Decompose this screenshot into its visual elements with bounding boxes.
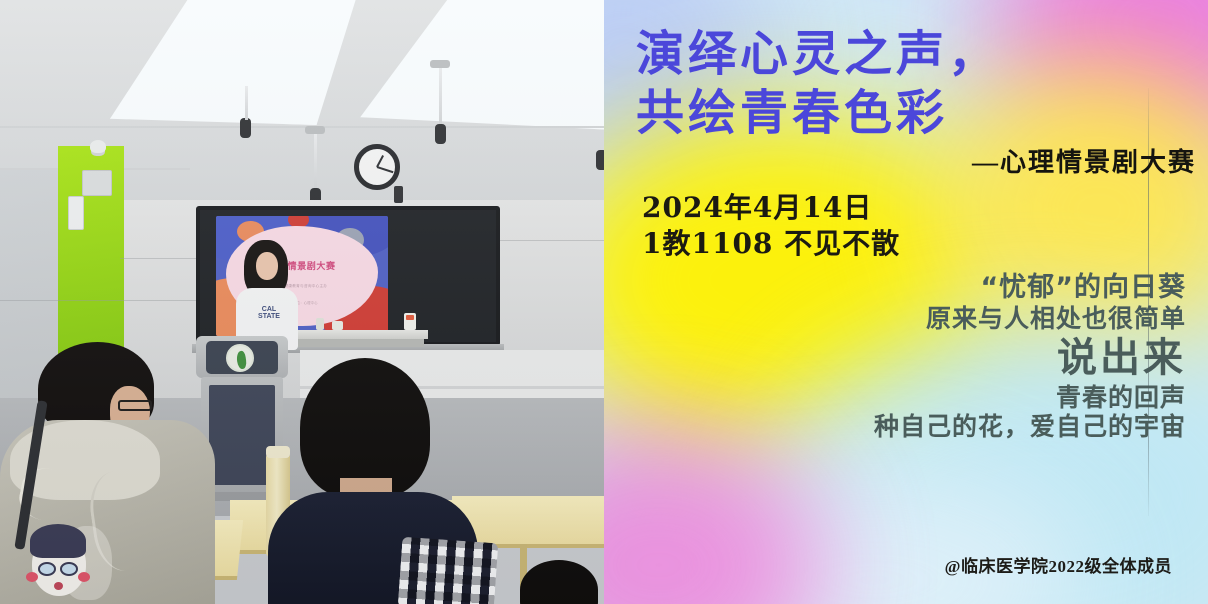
play-title: 原来与人相处也很简单	[664, 304, 1186, 334]
print-eye-right	[60, 562, 78, 576]
light-mount	[305, 126, 325, 134]
wall-seam	[0, 300, 200, 301]
plaid-shirt	[398, 537, 499, 604]
speaker-face	[256, 252, 278, 280]
poster-subtitle: —心理情景剧大赛	[804, 142, 1196, 179]
poster-title-line-2: 共绘青春色彩	[636, 85, 1196, 144]
light-rod	[439, 68, 442, 126]
print-cheek-right	[78, 572, 90, 582]
event-poster: 演绎心灵之声， 共绘青春色彩 —心理情景剧大赛 2024年4月14日 1教110…	[604, 0, 1208, 604]
wall-seam	[500, 240, 604, 241]
cup	[316, 318, 324, 330]
teacher-desk-apron	[292, 339, 424, 347]
teacher-desk	[288, 330, 428, 339]
play-title: 青春的回声	[664, 383, 1186, 413]
play-title: 说出来	[664, 335, 1186, 382]
bottle-cap	[266, 446, 290, 458]
poster-title: 演绎心灵之声， 共绘青春色彩	[636, 26, 1196, 143]
clock-mount	[394, 186, 403, 203]
print-hat	[30, 524, 86, 558]
print-cheek-left	[26, 572, 38, 582]
camera-icon	[90, 140, 106, 153]
cup	[404, 313, 416, 330]
sweatshirt-text: CAL STATE	[258, 306, 280, 328]
spotlight-icon	[240, 118, 251, 138]
cartoon-character-print	[18, 520, 110, 604]
slide-title: 心理情景剧大赛	[216, 259, 388, 272]
wall-clock-icon	[354, 144, 400, 190]
print-mouth	[54, 582, 63, 590]
light-mount	[430, 60, 450, 68]
event-venue: 1教1108 不见不散	[642, 226, 1062, 262]
poster-credit: @临床医学院2022级全体成员	[604, 552, 1172, 577]
print-eye-left	[38, 562, 56, 576]
play-title: 种自己的花，爱自己的宇宙	[664, 412, 1186, 442]
event-datetime-block: 2024年4月14日 1教1108 不见不散	[642, 190, 1062, 263]
spotlight-icon	[435, 124, 446, 144]
light-rod	[314, 134, 317, 190]
event-photo: 心理情景剧大赛 心理健康教育与咨询中心主办 主办单位：心理中心 CAL STAT…	[0, 0, 604, 604]
wall-seam	[120, 258, 200, 259]
poster-composite: 心理情景剧大赛 心理健康教育与咨询中心主办 主办单位：心理中心 CAL STAT…	[0, 0, 1208, 604]
school-emblem-icon	[226, 344, 254, 372]
play-title: “忧郁”的向日葵	[664, 272, 1186, 304]
spotlight-icon	[596, 150, 604, 170]
play-title-list: “忧郁”的向日葵 原来与人相处也很简单 说出来 青春的回声 种自己的花，爱自己的…	[664, 272, 1186, 442]
event-date: 2024年4月14日	[642, 190, 1062, 226]
eyeglasses-icon	[118, 400, 152, 411]
light-rod	[245, 86, 248, 120]
student-back-head	[520, 560, 598, 604]
wall-vent	[82, 170, 112, 196]
student-back-head	[300, 358, 430, 498]
ceiling-seam	[0, 126, 604, 128]
slide-subtitle: 心理健康教育与咨询中心主办	[216, 284, 388, 289]
cup	[332, 321, 343, 330]
poster-title-line-1: 演绎心灵之声，	[636, 26, 1196, 85]
light-switch	[68, 196, 84, 230]
